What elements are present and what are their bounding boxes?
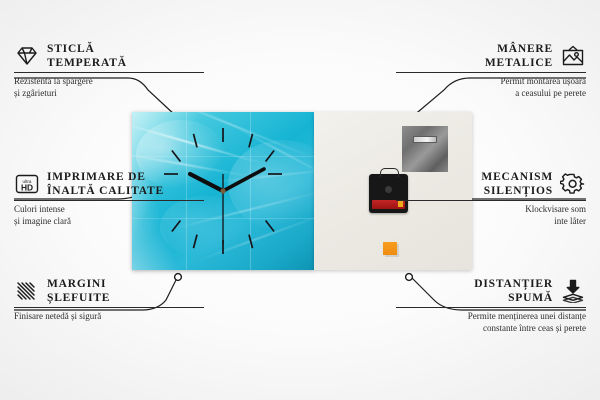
ultra-hd-icon: ultra HD: [14, 172, 40, 196]
feature-header: MECANISM SILENȚIOS: [396, 170, 586, 198]
feature-glass: STICLĂ TEMPERATĂ Rezistentă la spargere …: [14, 42, 204, 100]
polished-edges-icon: [14, 279, 40, 303]
feature-header: DISTANȚIER SPUMĂ: [396, 277, 586, 305]
feature-header: MARGINI ȘLEFUITE: [14, 277, 204, 305]
feature-title: MÂNERE METALICE: [485, 42, 553, 70]
feature-subtitle: Rezistentă la spargere și zgârieturi: [14, 76, 204, 100]
feature-subtitle: Permite menținerea unei distanțe constan…: [396, 311, 586, 335]
foam-spacer-icon: [560, 279, 586, 303]
feature-spacer: DISTANȚIER SPUMĂ Permite menținerea unei…: [396, 277, 586, 335]
hanger-slot: [413, 136, 437, 143]
picture-hanger-icon: [560, 44, 586, 68]
feature-subtitle: Culori intense și imagine clară: [14, 204, 204, 228]
clock-marker: [266, 151, 275, 162]
feature-silent: MECANISM SILENȚIOS Klockvisare som inte …: [396, 170, 586, 228]
feature-handles: MÂNERE METALICE Permit montarea ușoară a…: [396, 42, 586, 100]
feature-rule: [396, 72, 586, 73]
feature-rule: [396, 307, 586, 308]
clock-marker: [249, 235, 253, 249]
feature-rule: [14, 72, 204, 73]
clock-marker: [249, 134, 253, 148]
metal-hanger: [402, 126, 448, 172]
feature-title: MARGINI ȘLEFUITE: [47, 277, 110, 305]
feature-rule: [396, 200, 586, 201]
feature-print: ultra HD IMPRIMARE DE ÎNALTĂ CALITATE Cu…: [14, 170, 204, 228]
feature-header: ultra HD IMPRIMARE DE ÎNALTĂ CALITATE: [14, 170, 204, 198]
clock-minute-hand: [223, 169, 264, 191]
clock-center-cap: [220, 188, 225, 193]
clock-marker: [194, 235, 198, 249]
foam-spacer: [383, 242, 397, 255]
feature-edges: MARGINI ȘLEFUITE Finisare netedă și sigu…: [14, 277, 204, 323]
feature-rule: [14, 200, 204, 201]
feature-subtitle: Finisare netedă și sigură: [14, 311, 204, 323]
feature-title: MECANISM SILENȚIOS: [481, 170, 553, 198]
clock-marker: [172, 151, 181, 162]
diamond-icon: [14, 44, 40, 68]
infographic-canvas: STICLĂ TEMPERATĂ Rezistentă la spargere …: [0, 0, 600, 400]
feature-header: STICLĂ TEMPERATĂ: [14, 42, 204, 70]
feature-title: DISTANȚIER SPUMĂ: [474, 277, 553, 305]
gear-icon: [560, 172, 586, 196]
feature-header: MÂNERE METALICE: [396, 42, 586, 70]
feature-title: IMPRIMARE DE ÎNALTĂ CALITATE: [47, 170, 164, 198]
feature-subtitle: Klockvisare som inte låter: [396, 204, 586, 228]
clock-marker: [194, 134, 198, 148]
clock-marker: [266, 221, 275, 232]
svg-text:HD: HD: [21, 182, 33, 192]
feature-subtitle: Permit montarea ușoară a ceasului pe per…: [396, 76, 586, 100]
mechanism-shaft: [385, 186, 392, 193]
feature-rule: [14, 307, 204, 308]
feature-title: STICLĂ TEMPERATĂ: [47, 42, 127, 70]
